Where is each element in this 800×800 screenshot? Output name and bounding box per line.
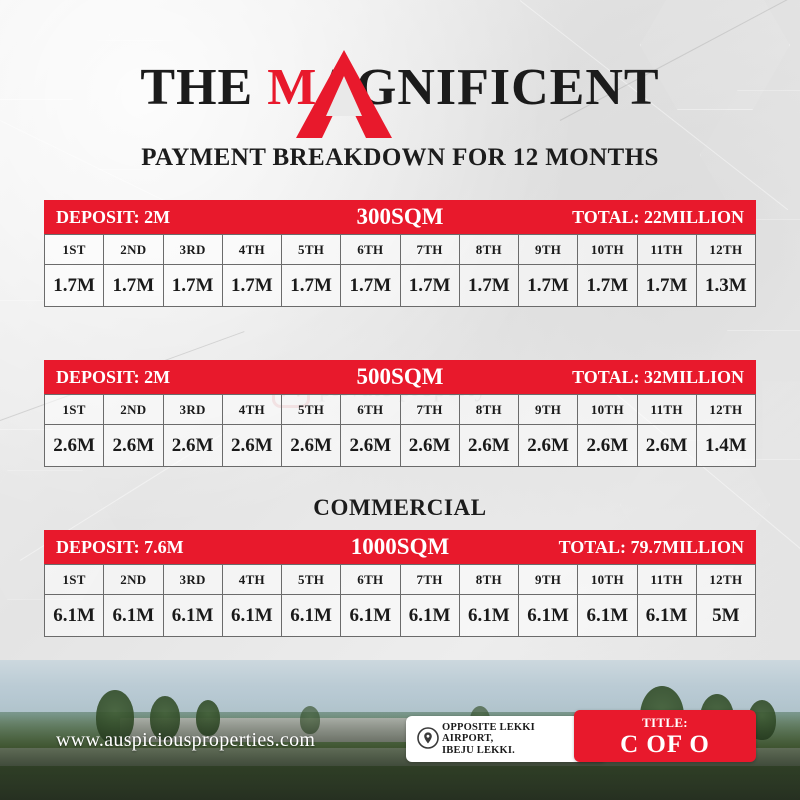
payment-cell: 6.1M	[459, 595, 518, 637]
plan-300sqm: DEPOSIT: 2M 300SQM TOTAL: 22MILLION 1ST …	[44, 200, 756, 307]
payment-cell: 2.6M	[163, 425, 222, 467]
payment-cell: 2.6M	[578, 425, 637, 467]
payment-cell: 1.7M	[222, 265, 281, 307]
payment-cell: 1.7M	[578, 265, 637, 307]
month-header: 8TH	[459, 395, 518, 425]
plan-500sqm-size: 500SQM	[299, 364, 501, 390]
plan-500sqm-total: TOTAL: 32MILLION	[501, 367, 756, 388]
month-header: 4TH	[222, 395, 281, 425]
address-text: OPPOSITE LEKKI AIRPORT, IBEJU LEKKI.	[442, 722, 535, 757]
title-label: TITLE:	[574, 715, 756, 731]
plan-300sqm-total: TOTAL: 22MILLION	[501, 207, 756, 228]
month-header: 11TH	[637, 395, 696, 425]
month-header: 9TH	[519, 395, 578, 425]
payment-cell: 6.1M	[519, 595, 578, 637]
payment-cell: 1.3M	[696, 265, 755, 307]
payment-cell: 1.7M	[637, 265, 696, 307]
payment-cell: 1.7M	[45, 265, 104, 307]
table-row: 1ST 2ND 3RD 4TH 5TH 6TH 7TH 8TH 9TH 10TH…	[45, 235, 756, 265]
payment-cell: 2.6M	[282, 425, 341, 467]
logo-rest: AGNIFICENT	[317, 59, 659, 116]
month-header: 1ST	[45, 235, 104, 265]
address-line-2: AIRPORT,	[442, 733, 535, 745]
plan-300sqm-deposit: DEPOSIT: 2M	[44, 207, 299, 228]
month-header: 10TH	[578, 395, 637, 425]
payment-cell: 2.6M	[519, 425, 578, 467]
plan-1000sqm: DEPOSIT: 7.6M 1000SQM TOTAL: 79.7MILLION…	[44, 530, 756, 637]
payment-cell: 2.6M	[222, 425, 281, 467]
month-header: 8TH	[459, 565, 518, 595]
month-header: 3RD	[163, 395, 222, 425]
payment-cell: 1.7M	[400, 265, 459, 307]
month-header: 12TH	[696, 235, 755, 265]
month-header: 7TH	[400, 565, 459, 595]
payment-cell: 2.6M	[104, 425, 163, 467]
month-header: 12TH	[696, 565, 755, 595]
month-header: 1ST	[45, 565, 104, 595]
payment-cell: 2.6M	[400, 425, 459, 467]
month-header: 10TH	[578, 235, 637, 265]
address-line-1: OPPOSITE LEKKI	[442, 722, 535, 734]
flyer-canvas: THE MAGNIFICENT PAYMENT BREAKDOWN FOR 12…	[0, 0, 800, 800]
payment-cell: 2.6M	[459, 425, 518, 467]
plan-300sqm-size: 300SQM	[299, 204, 501, 230]
payment-cell: 1.7M	[459, 265, 518, 307]
payment-cell: 6.1M	[163, 595, 222, 637]
month-header: 7TH	[400, 395, 459, 425]
payment-cell: 6.1M	[400, 595, 459, 637]
payment-cell: 2.6M	[45, 425, 104, 467]
logo-m: M	[267, 59, 317, 116]
payment-cell: 6.1M	[222, 595, 281, 637]
payment-cell: 1.7M	[104, 265, 163, 307]
title-badge: TITLE: C OF O	[574, 710, 756, 762]
title-value: C OF O	[574, 731, 756, 759]
plan-1000sqm-size: 1000SQM	[299, 534, 501, 560]
table-row: 6.1M 6.1M 6.1M 6.1M 6.1M 6.1M 6.1M 6.1M …	[45, 595, 756, 637]
table-row: 1ST 2ND 3RD 4TH 5TH 6TH 7TH 8TH 9TH 10TH…	[45, 565, 756, 595]
payment-cell: 2.6M	[341, 425, 400, 467]
payment-cell: 2.6M	[637, 425, 696, 467]
plan-1000sqm-band: DEPOSIT: 7.6M 1000SQM TOTAL: 79.7MILLION	[44, 530, 756, 564]
plan-500sqm-deposit: DEPOSIT: 2M	[44, 367, 299, 388]
plan-1000sqm-deposit: DEPOSIT: 7.6M	[44, 537, 299, 558]
month-header: 6TH	[341, 565, 400, 595]
month-header: 12TH	[696, 395, 755, 425]
location-pin-icon	[414, 725, 442, 753]
payment-cell: 6.1M	[637, 595, 696, 637]
payment-cell: 1.7M	[163, 265, 222, 307]
logo-the: THE	[140, 59, 267, 116]
page-subtitle: PAYMENT BREAKDOWN FOR 12 MONTHS	[0, 144, 800, 172]
plan-500sqm: DEPOSIT: 2M 500SQM TOTAL: 32MILLION 1ST …	[44, 360, 756, 467]
month-header: 4TH	[222, 235, 281, 265]
month-header: 11TH	[637, 565, 696, 595]
month-header: 10TH	[578, 565, 637, 595]
month-header: 9TH	[519, 235, 578, 265]
month-header: 4TH	[222, 565, 281, 595]
plan-300sqm-table: 1ST 2ND 3RD 4TH 5TH 6TH 7TH 8TH 9TH 10TH…	[44, 234, 756, 307]
table-row: 1ST 2ND 3RD 4TH 5TH 6TH 7TH 8TH 9TH 10TH…	[45, 395, 756, 425]
logo-wordmark: THE MAGNIFICENT	[0, 52, 800, 124]
month-header: 2ND	[104, 565, 163, 595]
payment-cell: 6.1M	[282, 595, 341, 637]
table-row: 1.7M 1.7M 1.7M 1.7M 1.7M 1.7M 1.7M 1.7M …	[45, 265, 756, 307]
month-header: 9TH	[519, 565, 578, 595]
month-header: 3RD	[163, 565, 222, 595]
website-url[interactable]: www.auspiciousproperties.com	[56, 729, 315, 752]
footer: www.auspiciousproperties.com OPPOSITE LE…	[0, 690, 800, 800]
payment-cell: 6.1M	[341, 595, 400, 637]
month-header: 2ND	[104, 395, 163, 425]
payment-cell: 1.7M	[519, 265, 578, 307]
payment-cell: 5M	[696, 595, 755, 637]
month-header: 5TH	[282, 395, 341, 425]
month-header: 7TH	[400, 235, 459, 265]
payment-cell: 1.4M	[696, 425, 755, 467]
payment-cell: 6.1M	[45, 595, 104, 637]
month-header: 11TH	[637, 235, 696, 265]
brand-logo: THE MAGNIFICENT	[0, 52, 800, 124]
payment-cell: 6.1M	[578, 595, 637, 637]
month-header: 1ST	[45, 395, 104, 425]
month-header: 2ND	[104, 235, 163, 265]
table-row: 2.6M 2.6M 2.6M 2.6M 2.6M 2.6M 2.6M 2.6M …	[45, 425, 756, 467]
plan-300sqm-band: DEPOSIT: 2M 300SQM TOTAL: 22MILLION	[44, 200, 756, 234]
plan-1000sqm-table: 1ST 2ND 3RD 4TH 5TH 6TH 7TH 8TH 9TH 10TH…	[44, 564, 756, 637]
plan-500sqm-band: DEPOSIT: 2M 500SQM TOTAL: 32MILLION	[44, 360, 756, 394]
month-header: 3RD	[163, 235, 222, 265]
month-header: 6TH	[341, 235, 400, 265]
plan-500sqm-table: 1ST 2ND 3RD 4TH 5TH 6TH 7TH 8TH 9TH 10TH…	[44, 394, 756, 467]
payment-cell: 1.7M	[282, 265, 341, 307]
plan-1000sqm-total: TOTAL: 79.7MILLION	[501, 537, 756, 558]
month-header: 5TH	[282, 235, 341, 265]
payment-cell: 1.7M	[341, 265, 400, 307]
address-line-3: IBEJU LEKKI.	[442, 745, 535, 757]
month-header: 6TH	[341, 395, 400, 425]
commercial-heading: COMMERCIAL	[0, 495, 800, 521]
month-header: 5TH	[282, 565, 341, 595]
payment-cell: 6.1M	[104, 595, 163, 637]
month-header: 8TH	[459, 235, 518, 265]
